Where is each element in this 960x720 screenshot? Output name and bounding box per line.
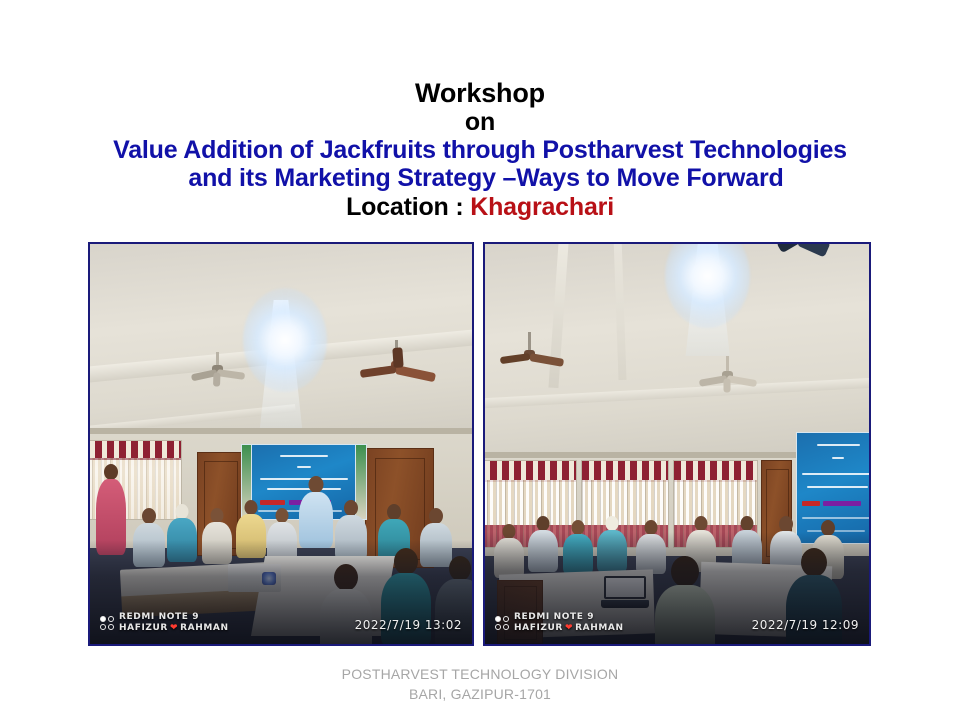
logo-row xyxy=(495,616,509,622)
logo-row xyxy=(100,616,114,622)
ceiling-fan-middle-icon xyxy=(696,356,758,388)
person-head xyxy=(245,500,258,515)
camera-watermark-left: REDMI NOTE 9 HAFIZUR ❤ RAHMAN xyxy=(100,612,229,634)
watermark-text: REDMI NOTE 9 HAFIZUR ❤ RAHMAN xyxy=(514,612,624,634)
footer-line-address: BARI, GAZIPUR-1701 xyxy=(0,684,960,704)
heart-icon: ❤ xyxy=(565,624,573,633)
banner-text-line xyxy=(807,486,868,488)
location-line: Location : Khagrachari xyxy=(0,193,960,221)
title-line-workshop: Workshop xyxy=(0,78,960,108)
person-head xyxy=(537,516,550,531)
fan-blade xyxy=(727,375,758,387)
person-head xyxy=(210,508,223,523)
person-head xyxy=(275,508,288,523)
logo-dot xyxy=(503,616,509,622)
banner-text-line xyxy=(802,473,869,475)
workshop-photo-right: REDMI NOTE 9 HAFIZUR ❤ RAHMAN 2022/7/19 … xyxy=(483,242,871,646)
logo-dot xyxy=(100,624,106,630)
ceiling-light-glare xyxy=(243,288,327,392)
watermark-owner-prefix: HAFIZUR xyxy=(119,623,168,634)
wall-trim xyxy=(90,428,472,434)
logo-dot xyxy=(495,616,501,622)
ceiling-fan-far-left-icon xyxy=(497,332,563,362)
fan-blade xyxy=(724,379,731,393)
ceiling-fan-top-icon xyxy=(765,244,835,254)
logo-row xyxy=(100,624,114,630)
person-head xyxy=(104,464,118,480)
window-pelmet xyxy=(582,461,668,482)
person-head xyxy=(429,508,443,524)
person-head xyxy=(176,504,189,519)
banner-text-line xyxy=(297,466,312,468)
watermark-owner-suffix: RAHMAN xyxy=(180,623,228,634)
slide-canvas: Workshop on Value Addition of Jackfruits… xyxy=(0,0,960,720)
person-head xyxy=(344,500,358,516)
logo-dot xyxy=(108,624,114,630)
person-head xyxy=(309,476,324,493)
banner-text-line xyxy=(802,517,869,519)
photo-timestamp-right: 2022/7/19 12:09 xyxy=(752,618,859,632)
person-head xyxy=(779,516,793,532)
banner-chip xyxy=(802,501,820,506)
watermark-device: REDMI NOTE 9 xyxy=(514,612,624,623)
watermark-owner-suffix: RAHMAN xyxy=(575,623,623,634)
title-block: Workshop on Value Addition of Jackfruits… xyxy=(0,78,960,221)
footer-line-division: POSTHARVEST TECHNOLOGY DIVISION xyxy=(0,664,960,684)
photo-timestamp-left: 2022/7/19 13:02 xyxy=(355,618,462,632)
fan-rod xyxy=(528,332,531,352)
photo-left-scene xyxy=(90,244,472,644)
title-line-on: on xyxy=(0,108,960,136)
fan-blade xyxy=(213,372,220,386)
title-line-subject-1: Value Addition of Jackfruits through Pos… xyxy=(0,136,960,164)
workshop-photo-left: REDMI NOTE 9 HAFIZUR ❤ RAHMAN 2022/7/19 … xyxy=(88,242,474,646)
redmi-logo-icon xyxy=(495,616,509,630)
camera-watermark-right: REDMI NOTE 9 HAFIZUR ❤ RAHMAN xyxy=(495,612,624,634)
ceiling-fan-left-icon xyxy=(189,352,245,382)
banner-text-line xyxy=(280,455,328,457)
watermark-text: REDMI NOTE 9 HAFIZUR ❤ RAHMAN xyxy=(119,612,229,634)
banner-text-line xyxy=(832,457,844,459)
logo-dot xyxy=(100,616,106,622)
person-head xyxy=(387,504,401,520)
person-head xyxy=(740,516,753,531)
watermark-device: REDMI NOTE 9 xyxy=(119,612,229,623)
title-line-subject-2: and its Marketing Strategy –Ways to Move… xyxy=(0,164,960,192)
window-pelmet xyxy=(485,461,576,482)
fan-blade xyxy=(217,369,246,380)
watermark-owner-prefix: HAFIZUR xyxy=(514,623,563,634)
logo-dot xyxy=(495,624,501,630)
logo-dot xyxy=(503,624,509,630)
person-head xyxy=(606,516,619,531)
person-head xyxy=(694,516,707,531)
watermark-owner: HAFIZUR ❤ RAHMAN xyxy=(514,623,624,634)
redmi-logo-icon xyxy=(100,616,114,630)
fan-blade xyxy=(393,347,404,368)
location-value: Khagrachari xyxy=(470,193,614,221)
watermark-owner: HAFIZUR ❤ RAHMAN xyxy=(119,623,229,634)
window-pelmet xyxy=(674,461,756,482)
logo-dot xyxy=(108,616,114,622)
heart-icon: ❤ xyxy=(170,624,178,633)
photo-right-scene xyxy=(485,244,869,644)
logo-row xyxy=(495,624,509,630)
person-head xyxy=(142,508,156,524)
ceiling-fan-right-icon xyxy=(357,340,435,376)
location-label: Location : xyxy=(346,193,470,221)
banner-text-line xyxy=(817,444,860,446)
banner-chip xyxy=(823,501,861,506)
standing-speaker xyxy=(296,476,336,546)
footer: POSTHARVEST TECHNOLOGY DIVISION BARI, GA… xyxy=(0,664,960,704)
